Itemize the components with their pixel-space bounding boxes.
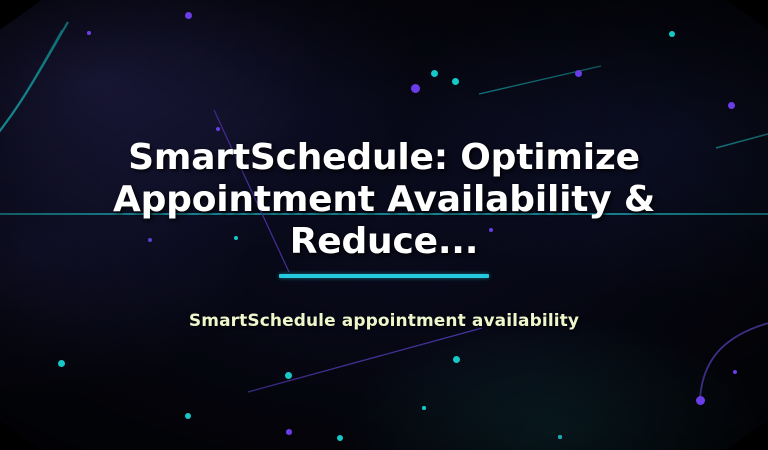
page-subtitle: SmartSchedule appointment availability bbox=[189, 311, 579, 331]
title-block: SmartSchedule: Optimize Appointment Avai… bbox=[104, 137, 664, 263]
slide-canvas: SmartSchedule: Optimize Appointment Avai… bbox=[0, 0, 768, 450]
page-title: SmartSchedule: Optimize Appointment Avai… bbox=[104, 137, 664, 263]
title-underline-bar bbox=[279, 274, 489, 278]
slide-content: SmartSchedule: Optimize Appointment Avai… bbox=[0, 0, 768, 450]
